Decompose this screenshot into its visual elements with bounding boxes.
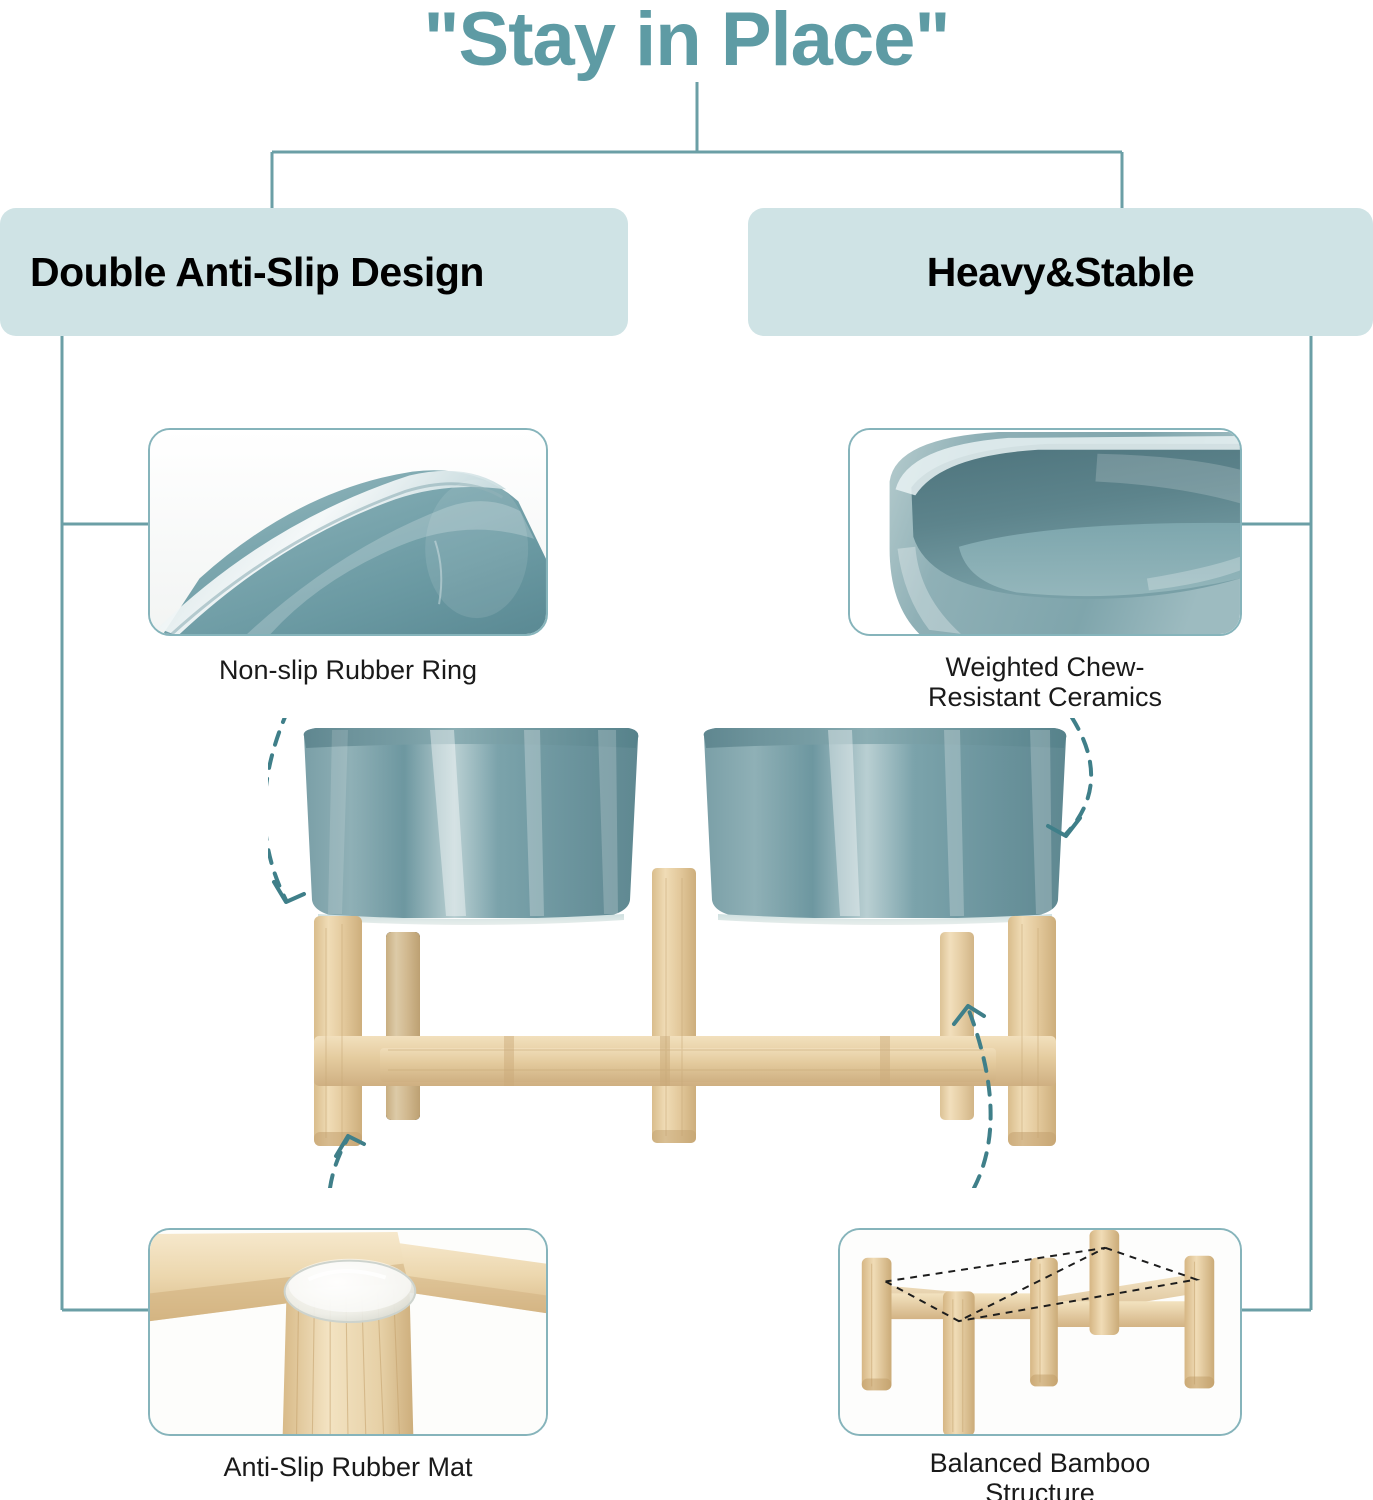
inset-photo-anti-slip-rubber-mat xyxy=(148,1228,548,1436)
category-label-heavy-and-stable: Heavy&Stable xyxy=(748,208,1373,336)
hero-product-photo-two-bowls-on-bamboo-stand xyxy=(268,718,1108,1188)
caption-line: Balanced Bamboo xyxy=(838,1448,1242,1478)
category-label-double-anti-slip-design: Double Anti-Slip Design xyxy=(0,208,628,336)
inset-photo-non-slip-rubber-ring xyxy=(148,428,548,636)
bamboo-stand-with-dashed-triangles-image xyxy=(840,1230,1240,1436)
leg-left-front xyxy=(943,1291,975,1436)
arrow-to-bowl-base-left xyxy=(268,718,288,900)
caption-anti-slip-rubber-mat: Anti-Slip Rubber Mat xyxy=(148,1452,548,1482)
caption-line: Structure xyxy=(838,1478,1242,1500)
inset-photo-balanced-bamboo-structure xyxy=(838,1228,1242,1436)
leg-middle xyxy=(1030,1258,1058,1387)
leg-far-left xyxy=(862,1258,892,1391)
infographic-page: "Stay in Place" Double Anti-Slip Design … xyxy=(0,0,1373,1500)
bowl-left xyxy=(304,728,639,925)
caption-weighted-chew-resistant-ceramics: Weighted Chew- Resistant Ceramics xyxy=(848,652,1242,712)
caption-non-slip-rubber-ring: Non-slip Rubber Ring xyxy=(148,655,548,685)
ceramic-bowl-interior-closeup-image xyxy=(850,430,1240,636)
caption-line: Non-slip Rubber Ring xyxy=(148,655,548,685)
caption-line: Resistant Ceramics xyxy=(848,682,1242,712)
ceramic-bowl-underside-rim-image xyxy=(150,430,546,636)
caption-line: Anti-Slip Rubber Mat xyxy=(148,1452,548,1482)
caption-line: Weighted Chew- xyxy=(848,652,1242,682)
inset-photo-weighted-chew-resistant-ceramics xyxy=(848,428,1242,636)
bowl-right xyxy=(704,728,1067,925)
caption-balanced-bamboo-structure: Balanced Bamboo Structure xyxy=(838,1448,1242,1500)
bamboo-leg-with-clear-rubber-pad-image xyxy=(150,1230,546,1436)
leg-far-right xyxy=(1185,1256,1215,1389)
leg-center-rear xyxy=(1089,1230,1119,1335)
